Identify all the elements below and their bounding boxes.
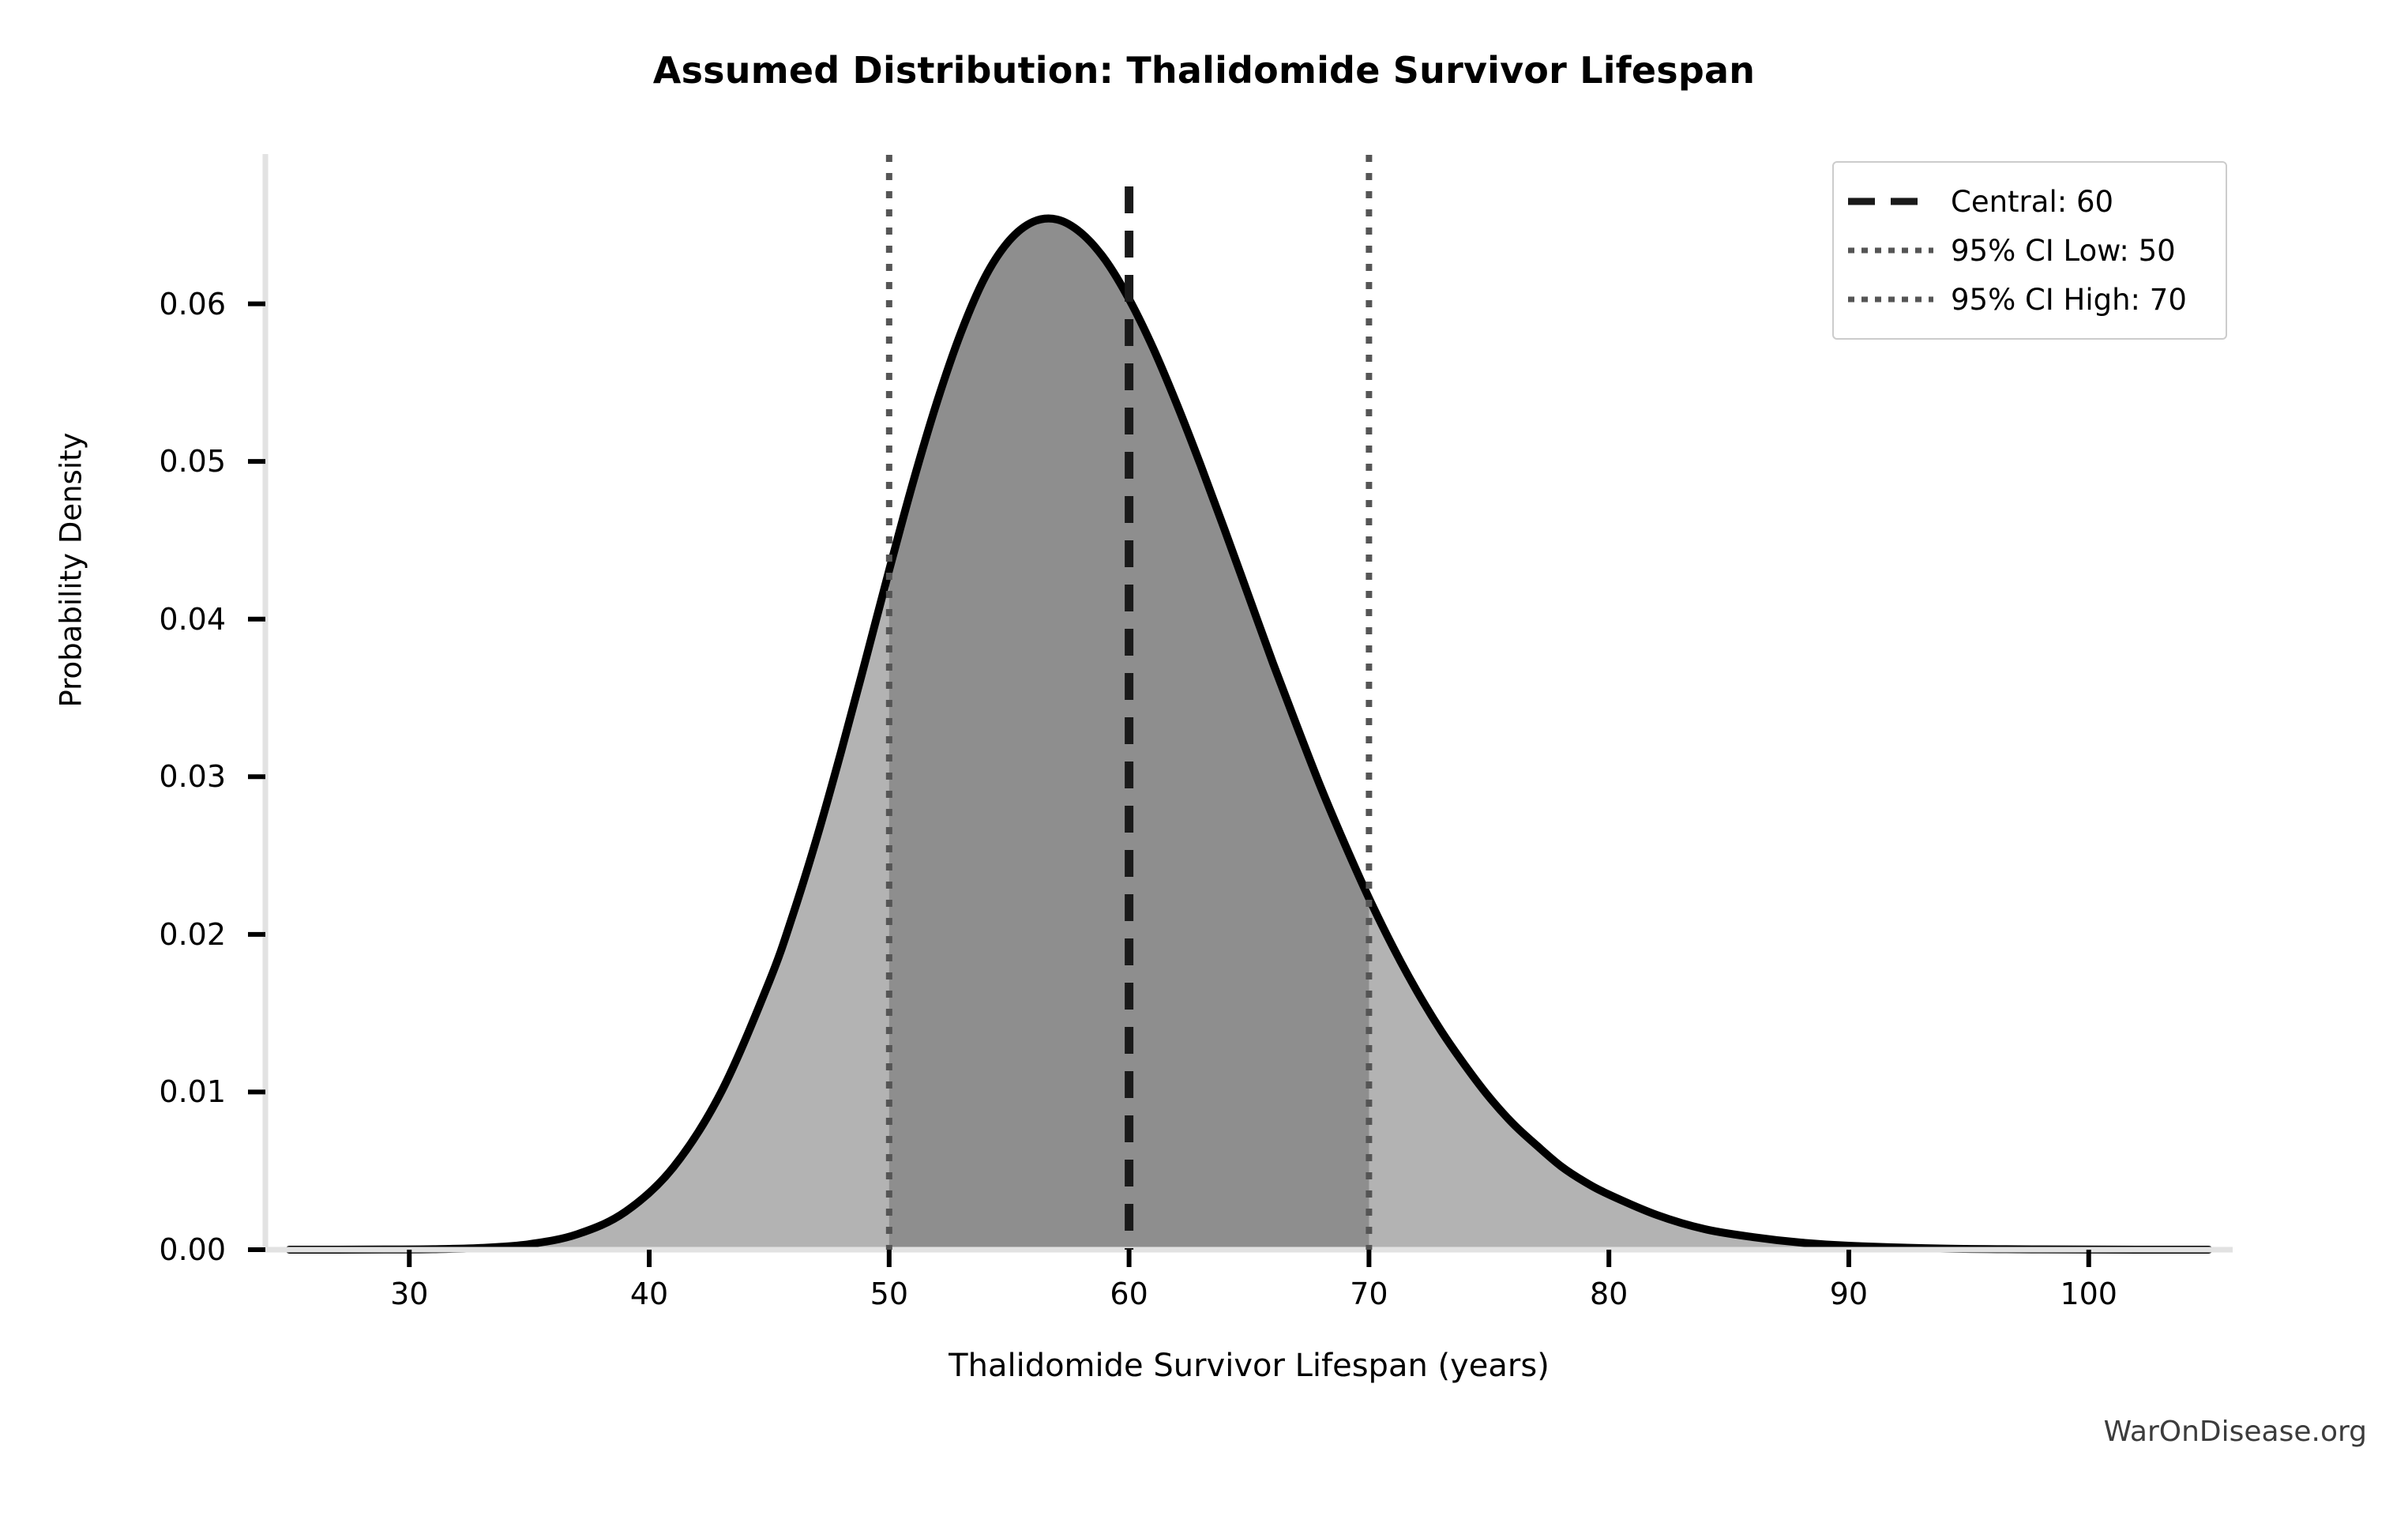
x-tick-label: 70 xyxy=(1290,1277,1448,1311)
y-tick-label: 0.02 xyxy=(36,917,226,952)
legend-item-ci-high[interactable]: 95% CI High: 70 xyxy=(1848,275,2208,324)
y-tick-label: 0.00 xyxy=(36,1232,226,1267)
legend-label-ci-high: 95% CI High: 70 xyxy=(1951,283,2187,317)
legend-label-ci-low: 95% CI Low: 50 xyxy=(1951,234,2176,268)
legend-label-central: Central: 60 xyxy=(1951,185,2113,219)
x-tick-label: 100 xyxy=(2010,1277,2168,1311)
x-tick-label: 90 xyxy=(1770,1277,1928,1311)
y-tick-label: 0.01 xyxy=(36,1074,226,1109)
dotted-line-icon xyxy=(1848,239,1933,262)
dotted-line-icon xyxy=(1848,288,1933,311)
x-axis-label: Thalidomide Survivor Lifespan (years) xyxy=(265,1348,2233,1384)
chart-legend: Central: 60 95% CI Low: 50 95% CI High: … xyxy=(1832,161,2227,340)
x-tick-label: 30 xyxy=(330,1277,488,1311)
x-tick-label-layer: 30405060708090100 xyxy=(0,1277,2408,1324)
legend-item-central[interactable]: Central: 60 xyxy=(1848,177,2208,226)
density-area-inside-ci xyxy=(289,219,2208,1250)
x-tick-label: 40 xyxy=(570,1277,728,1311)
legend-item-ci-low[interactable]: 95% CI Low: 50 xyxy=(1848,226,2208,275)
y-tick-label: 0.06 xyxy=(36,287,226,322)
x-tick-label: 60 xyxy=(1050,1277,1208,1311)
x-tick-label: 50 xyxy=(810,1277,968,1311)
site-watermark: WarOnDisease.org xyxy=(2104,1416,2367,1448)
chart-figure: Assumed Distribution: Thalidomide Surviv… xyxy=(0,0,2408,1523)
x-tick-label: 80 xyxy=(1530,1277,1688,1311)
y-axis-label: Probability Density xyxy=(54,365,88,776)
dashed-line-icon xyxy=(1848,190,1933,213)
